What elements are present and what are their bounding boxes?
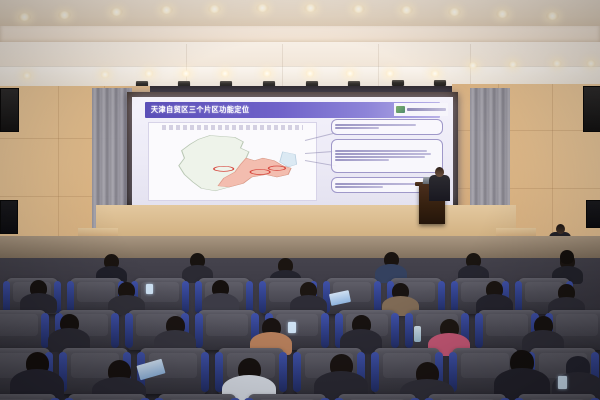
ceiling-downlight	[208, 5, 221, 13]
ceiling-downlight	[546, 12, 559, 20]
ceiling-downlight	[262, 70, 272, 77]
slide-map-panel	[148, 122, 317, 201]
auditorium-seat	[0, 394, 56, 400]
auditorium-seat	[248, 394, 326, 400]
ceiling-downlight	[552, 60, 562, 67]
auditorium-seat	[428, 394, 506, 400]
ceiling-downlight	[448, 8, 461, 16]
ceiling-downlight	[304, 4, 317, 12]
ceiling-downlight	[305, 70, 315, 77]
auditorium-seat	[0, 310, 46, 350]
standing-attendee-head	[556, 224, 565, 234]
callout-port	[331, 139, 443, 172]
callout-airport	[331, 119, 443, 135]
screenshot-root: 天津自贸区三个片区功能定位	[0, 0, 600, 400]
projected-slide: 天津自贸区三个片区功能定位	[132, 97, 453, 205]
audience-area	[0, 236, 600, 400]
ceiling-downlight	[430, 70, 440, 77]
ceiling-downlight	[508, 61, 518, 68]
ceiling-downlight	[58, 11, 71, 19]
ceiling-downlight	[181, 70, 191, 77]
ceiling-downlight	[144, 70, 154, 77]
wall-speaker-left	[0, 88, 19, 132]
attendee-phone	[558, 376, 567, 389]
ceiling-downlight	[400, 6, 413, 14]
auditorium-seat	[158, 394, 236, 400]
audience-head	[560, 250, 574, 264]
projection-screen-frame: 天津自贸区三个片区功能定位	[127, 92, 458, 210]
ceiling-downlight	[345, 70, 355, 77]
ceiling-downlight	[586, 60, 596, 67]
ceiling-downlight	[100, 71, 110, 78]
wall-monitor-left	[0, 200, 18, 234]
auditorium-seat	[518, 394, 596, 400]
ceiling-downlight	[220, 70, 230, 77]
presenter-head	[435, 167, 444, 177]
ceiling-downlight	[385, 70, 395, 77]
ceiling-downlight	[352, 5, 365, 13]
wall-monitor-right	[586, 200, 600, 228]
map-caption-text	[162, 125, 302, 130]
slide-logo	[394, 103, 449, 116]
presenter-body	[429, 175, 450, 201]
auditorium-seat	[198, 310, 256, 350]
water-bottle	[414, 326, 421, 342]
attendee-phone	[146, 284, 153, 294]
ceiling-downlight	[22, 72, 32, 79]
green-mountain-logo-icon	[396, 106, 405, 113]
ceiling-downlight	[496, 10, 509, 18]
tianjin-map-graphic	[162, 133, 302, 196]
ceiling-downlight	[256, 4, 269, 12]
ceiling-downlight	[18, 13, 31, 21]
logo-wordmark	[407, 108, 447, 111]
ceiling-downlight	[468, 62, 478, 69]
auditorium-seat	[68, 394, 146, 400]
ceiling-downlight	[110, 8, 123, 16]
slide-title-text: 天津自贸区三个片区功能定位	[145, 105, 250, 115]
ceiling-downlight	[160, 6, 173, 14]
floor-strip	[0, 236, 600, 258]
wall-speaker-right	[583, 86, 600, 132]
auditorium-seat	[338, 394, 416, 400]
attendee-phone	[288, 322, 296, 333]
